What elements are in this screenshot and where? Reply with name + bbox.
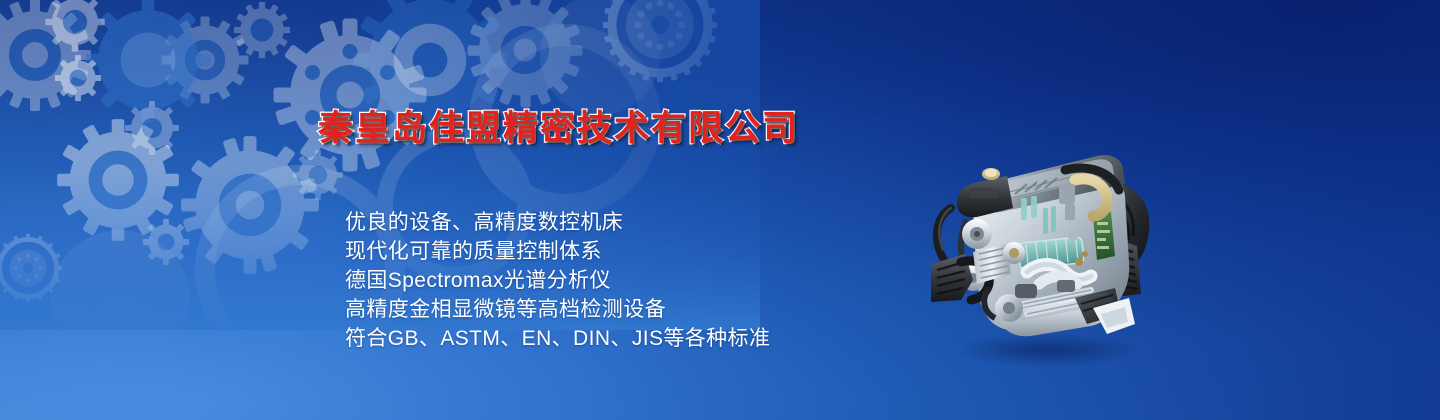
feature-line: 现代化可靠的质量控制体系	[345, 237, 905, 266]
company-banner: 秦皇岛佳盟精密技术有限公司 优良的设备、高精度数控机床 现代化可靠的质量控制体系…	[0, 0, 1440, 420]
page-title: 秦皇岛佳盟精密技术有限公司	[318, 100, 799, 151]
feature-line: 高精度金相显微镜等高档检测设备	[345, 295, 905, 324]
feature-line: 德国Spectromax光谱分析仪	[345, 266, 905, 295]
car-engine-cutaway-image	[915, 112, 1170, 367]
feature-list: 优良的设备、高精度数控机床 现代化可靠的质量控制体系 德国Spectromax光…	[345, 208, 905, 353]
feature-line: 符合GB、ASTM、EN、DIN、JIS等各种标准	[345, 324, 905, 353]
feature-line: 优良的设备、高精度数控机床	[345, 208, 905, 237]
